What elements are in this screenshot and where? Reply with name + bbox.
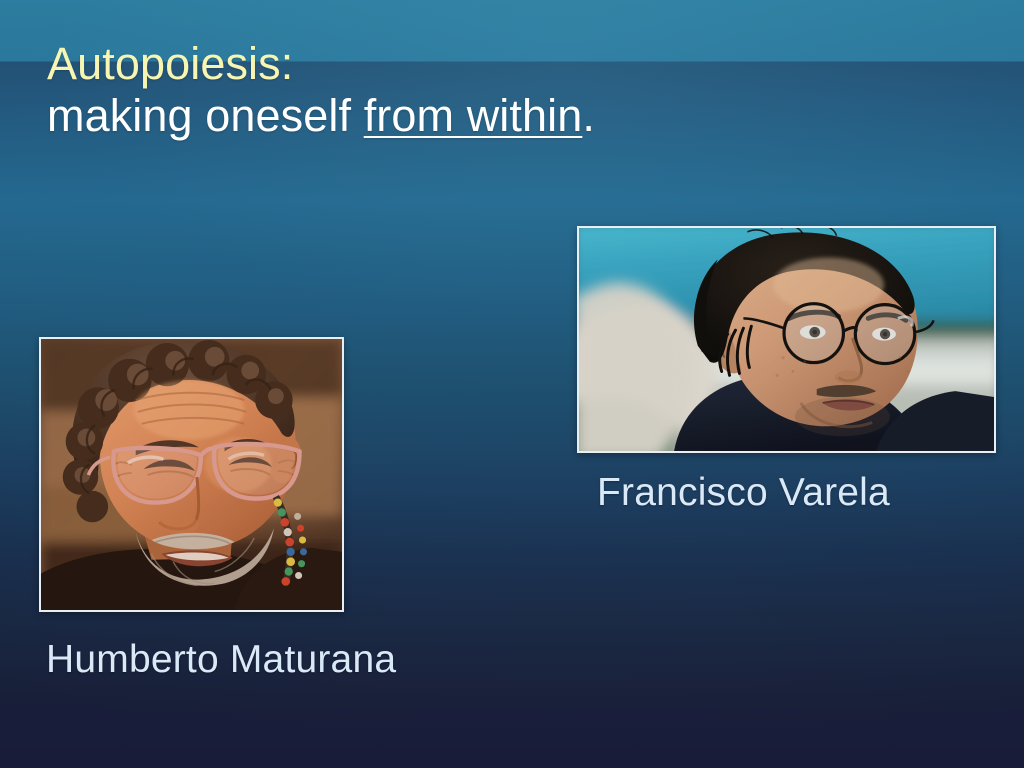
photo-francisco-varela [577, 226, 996, 453]
portrait-varela-illustration [579, 228, 994, 451]
title-subtitle-suffix: . [582, 90, 595, 141]
presentation-slide: Autopoiesis: making oneself from within. [0, 0, 1024, 768]
title-subtitle-prefix: making oneself [47, 90, 364, 141]
caption-francisco-varela: Francisco Varela [597, 471, 890, 515]
photo-humberto-maturana [39, 337, 344, 612]
title-subtitle-emphasis: from within [364, 90, 583, 141]
title-line-subtitle: making oneself from within. [47, 90, 595, 142]
portrait-maturana-illustration [41, 339, 342, 610]
caption-humberto-maturana: Humberto Maturana [46, 638, 396, 682]
title-line-autopoiesis: Autopoiesis: [47, 38, 595, 90]
slide-title: Autopoiesis: making oneself from within. [47, 38, 595, 142]
